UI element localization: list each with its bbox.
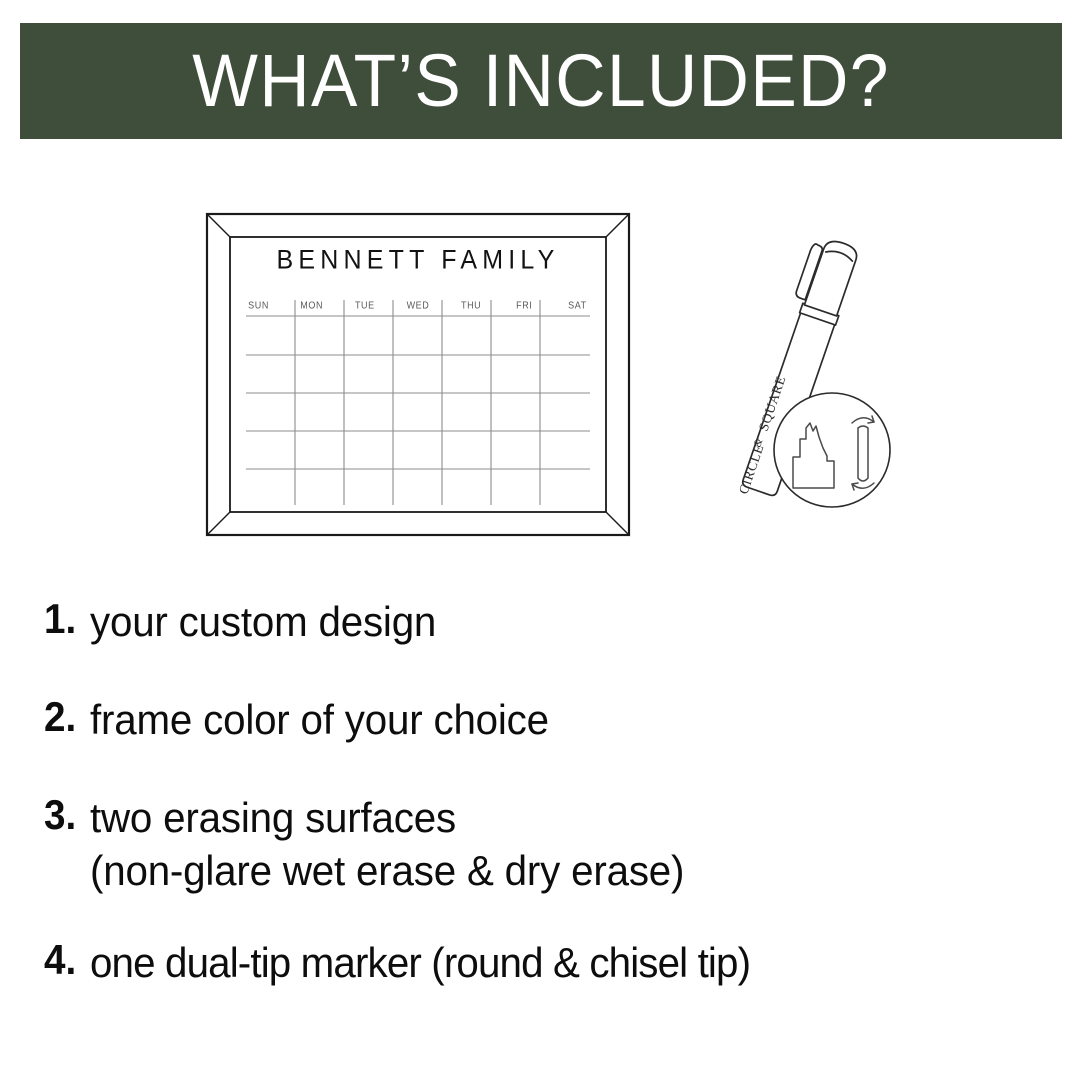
whiteboard-calendar-illustration: BENNETT FAMILY SUN MON TUE WED THU FRI S… — [205, 212, 631, 537]
calendar-day-header-thu: THU — [445, 299, 498, 311]
calendar-day-header-sat: SAT — [551, 299, 604, 311]
calendar-day-header-row: SUN MON TUE WED THU FRI SAT — [232, 300, 604, 310]
list-item-label: frame color of your choice — [90, 693, 549, 747]
product-illustration: BENNETT FAMILY SUN MON TUE WED THU FRI S… — [0, 180, 1080, 580]
header-banner: WHAT’S INCLUDED? — [20, 23, 1062, 139]
list-item: 1. your custom design — [44, 595, 1064, 649]
marker-svg: CIRCLE & SQUARE — [700, 220, 900, 520]
list-item-label: two erasing surfaces (non-glare wet eras… — [90, 791, 684, 899]
calendar-day-header-mon: MON — [285, 299, 338, 311]
list-item: 4. one dual-tip marker (round & chisel t… — [44, 936, 1064, 990]
list-item-number: 3. — [44, 791, 86, 840]
dual-tip-marker-illustration: CIRCLE & SQUARE — [700, 220, 900, 520]
calendar-day-header-fri: FRI — [498, 299, 551, 311]
round-tip-icon — [858, 426, 868, 481]
list-item: 2. frame color of your choice — [44, 693, 1064, 747]
marker-tip-detail-inset — [774, 393, 890, 507]
list-item: 3. two erasing surfaces (non-glare wet e… — [44, 791, 1064, 899]
list-item-number: 2. — [44, 693, 86, 742]
list-item-label: one dual-tip marker (round & chisel tip) — [90, 936, 750, 990]
list-item-number: 4. — [44, 936, 86, 985]
list-item-label: your custom design — [90, 595, 436, 649]
list-item-number: 1. — [44, 595, 86, 644]
calendar-day-header-sun: SUN — [232, 299, 285, 311]
calendar-family-name: BENNETT FAMILY — [235, 245, 601, 276]
page-title: WHAT’S INCLUDED? — [192, 44, 890, 118]
calendar-day-header-tue: TUE — [338, 299, 391, 311]
calendar-day-header-wed: WED — [391, 299, 444, 311]
included-items-list: 1. your custom design 2. frame color of … — [44, 595, 1064, 990]
